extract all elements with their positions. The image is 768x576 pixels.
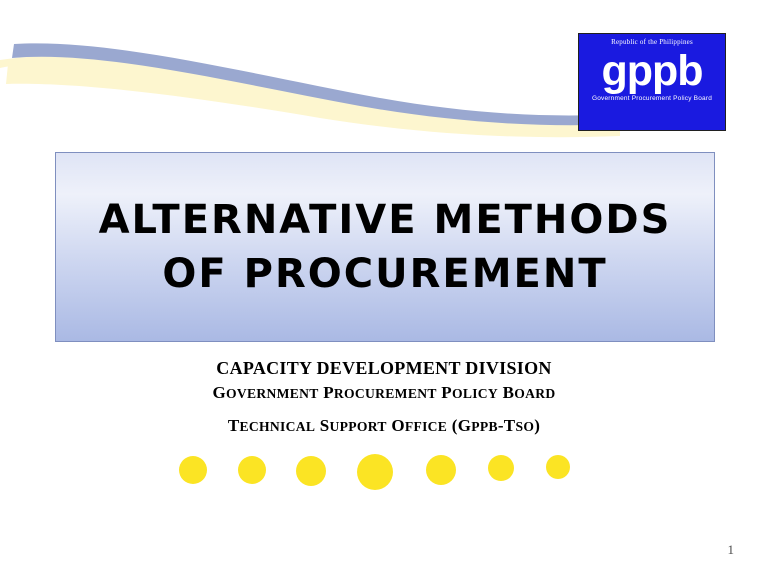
gppb-logo: Republic of the Philippines gppb Governm… (578, 33, 726, 131)
decorative-dots-row (0, 452, 768, 496)
page-title-line-1: ALTERNATIVE METHODS (99, 193, 672, 247)
logo-bottom-text: Government Procurement Policy Board (592, 95, 712, 102)
slide-title-box: ALTERNATIVE METHODS OF PROCUREMENT (55, 152, 715, 342)
page-number: 1 (728, 542, 735, 558)
decorative-dot (357, 454, 393, 490)
logo-wordmark: gppb (601, 49, 702, 93)
swoosh-cream-shape (0, 56, 620, 130)
logo-top-text: Republic of the Philippines (611, 38, 693, 46)
swoosh-cream-fill (6, 62, 620, 138)
subtitle-line-3: TECHNICAL SUPPORT OFFICE (GPPB-TSO) (0, 413, 768, 440)
decorative-dot (296, 456, 326, 486)
decorative-dot (238, 456, 266, 484)
subtitle-line-1: CAPACITY DEVELOPMENT DIVISION (0, 356, 768, 380)
decorative-dot (179, 456, 207, 484)
decorative-dot (426, 455, 456, 485)
decorative-dot (546, 455, 570, 479)
decorative-dot (488, 455, 514, 481)
page-title-line-2: OF PROCUREMENT (162, 247, 607, 301)
decorative-swoosh (0, 24, 620, 144)
subtitle-block: CAPACITY DEVELOPMENT DIVISION GOVERNMENT… (0, 356, 768, 440)
subtitle-line-2: GOVERNMENT PROCUREMENT POLICY BOARD (0, 380, 768, 407)
swoosh-blue-shape (12, 43, 620, 125)
